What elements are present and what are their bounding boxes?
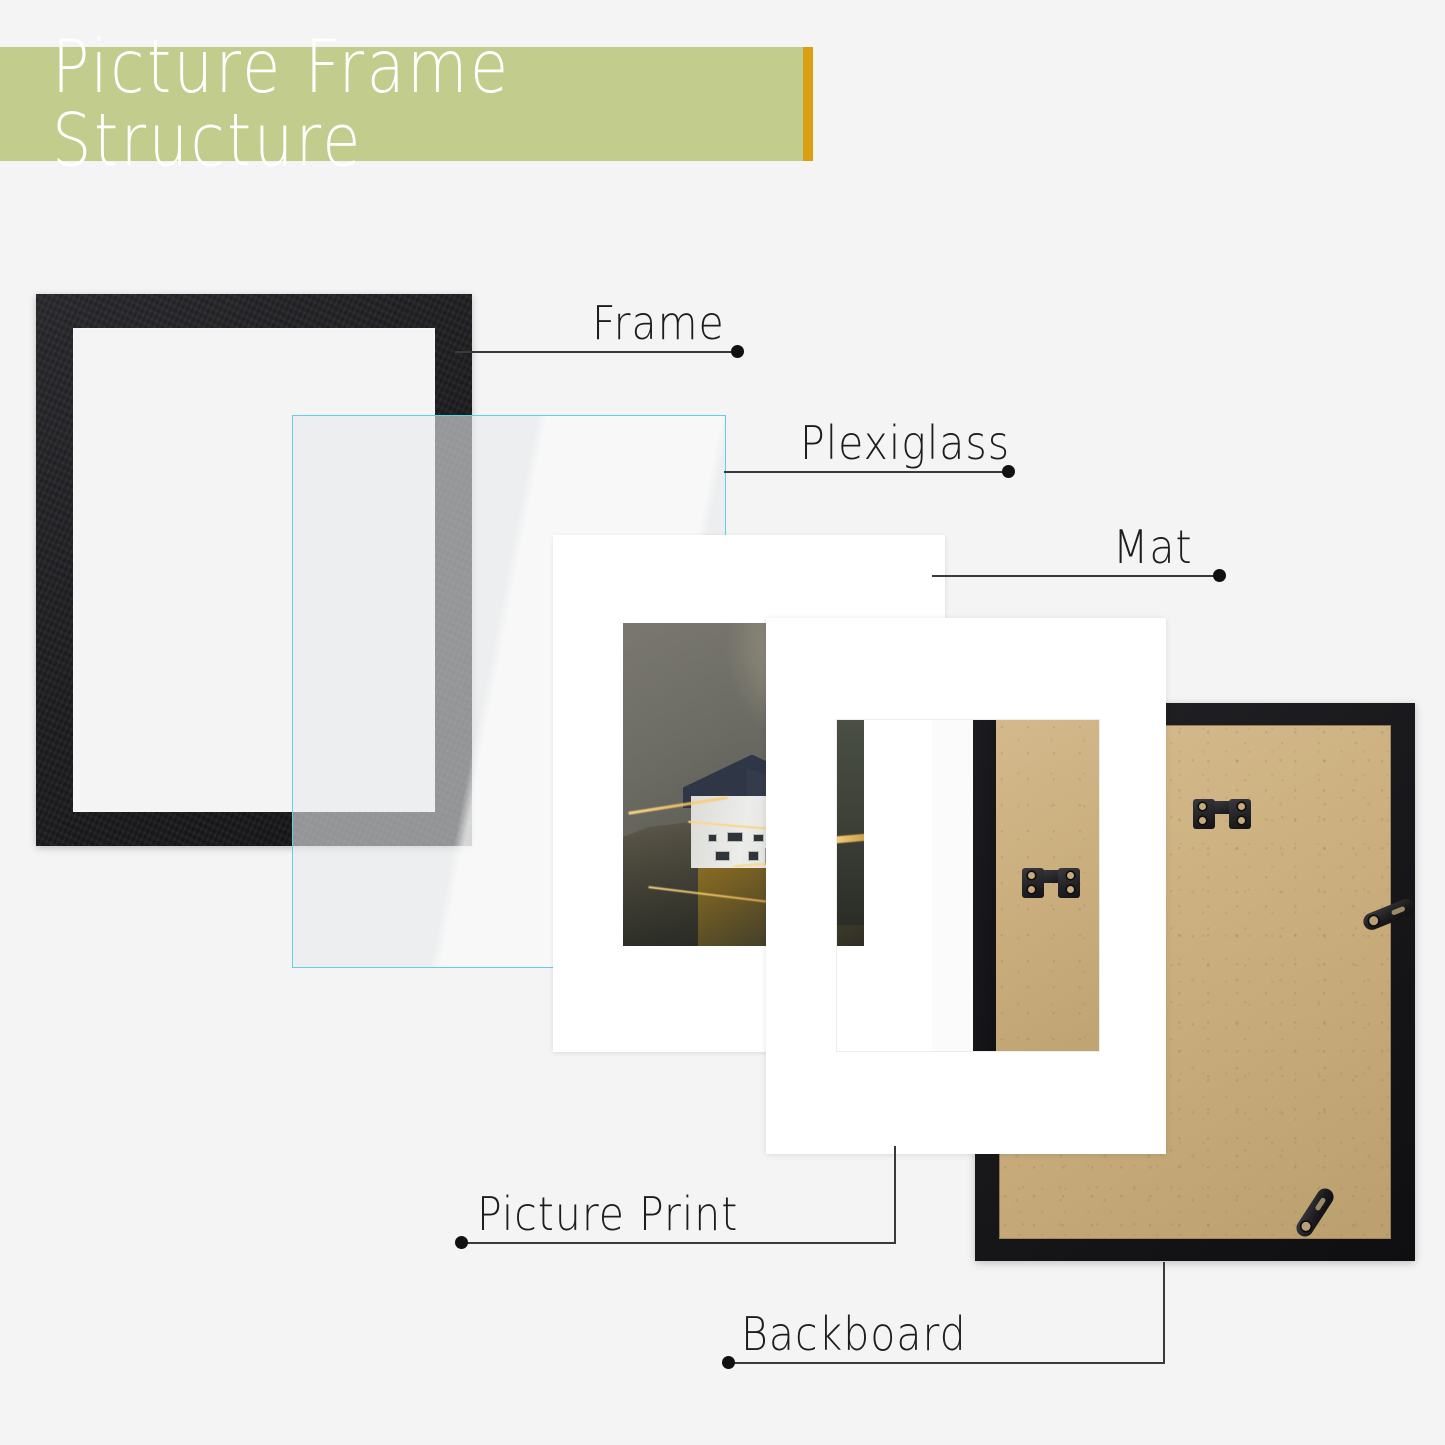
screw-hole (1028, 872, 1035, 879)
screw-hole (1199, 803, 1206, 810)
leader-dot (731, 345, 744, 358)
clip-pivot-hole (1300, 1220, 1312, 1232)
label-backboard: Backboard (741, 1307, 967, 1361)
page-title: Picture Frame Structure (0, 31, 803, 177)
clip-pivot-hole (1368, 915, 1380, 927)
window-rear-mat-shadow (932, 720, 973, 1052)
screw-hole (1067, 872, 1074, 879)
mat-border-right (1100, 719, 1166, 1052)
sawtooth-plate (1058, 868, 1080, 898)
sawtooth-hanger-icon (1193, 799, 1251, 829)
screw-hole (1238, 803, 1245, 810)
title-banner: Picture Frame Structure (0, 47, 803, 161)
screw-hole (1238, 817, 1245, 824)
photo-gold-grass-highlight (837, 833, 864, 843)
label-picture-print: Picture Print (477, 1187, 738, 1241)
leader-line (932, 575, 1222, 577)
house-window (727, 832, 744, 843)
infographic-canvas: Picture Frame Structure (0, 0, 1445, 1445)
window-backboard-frame-edge (973, 720, 996, 1052)
clip-slot (1391, 906, 1406, 916)
leader-line (455, 351, 738, 353)
label-mat: Mat (1113, 520, 1193, 574)
sawtooth-hanger-icon (1022, 868, 1080, 898)
leader-line (1163, 1262, 1165, 1363)
window-backboard-kraft (996, 720, 1100, 1052)
leader-line (462, 1242, 896, 1244)
leader-line (724, 471, 1009, 473)
house-window (748, 851, 759, 861)
component-mat-front (766, 618, 1166, 1154)
turn-button-clip-icon (1293, 1185, 1337, 1240)
screw-hole (1199, 817, 1206, 824)
leader-dot (722, 1356, 735, 1369)
leader-line (729, 1362, 1165, 1364)
window-rear-mat (864, 720, 932, 1052)
mat-window-opening (836, 719, 1100, 1052)
mat-border-top (766, 618, 1166, 719)
sawtooth-plate (1229, 799, 1251, 829)
sawtooth-plate (1022, 868, 1044, 898)
leader-dot (455, 1236, 468, 1249)
house-window (708, 834, 717, 842)
leader-dot (1213, 569, 1226, 582)
sawtooth-plate (1193, 799, 1215, 829)
label-plexiglass: Plexiglass (800, 416, 1010, 470)
house-window (753, 834, 764, 843)
clip-slot (1315, 1197, 1327, 1211)
screw-hole (1028, 886, 1035, 893)
mat-border-left (766, 719, 836, 1052)
turn-button-clip-icon (1361, 897, 1417, 933)
label-frame: Frame (592, 296, 725, 350)
window-photo-sliver (837, 720, 864, 925)
screw-hole (1067, 886, 1074, 893)
house-window (715, 851, 730, 861)
leader-line (894, 1146, 896, 1244)
mat-border-bottom (766, 1052, 1166, 1154)
title-accent-bar (803, 47, 813, 161)
